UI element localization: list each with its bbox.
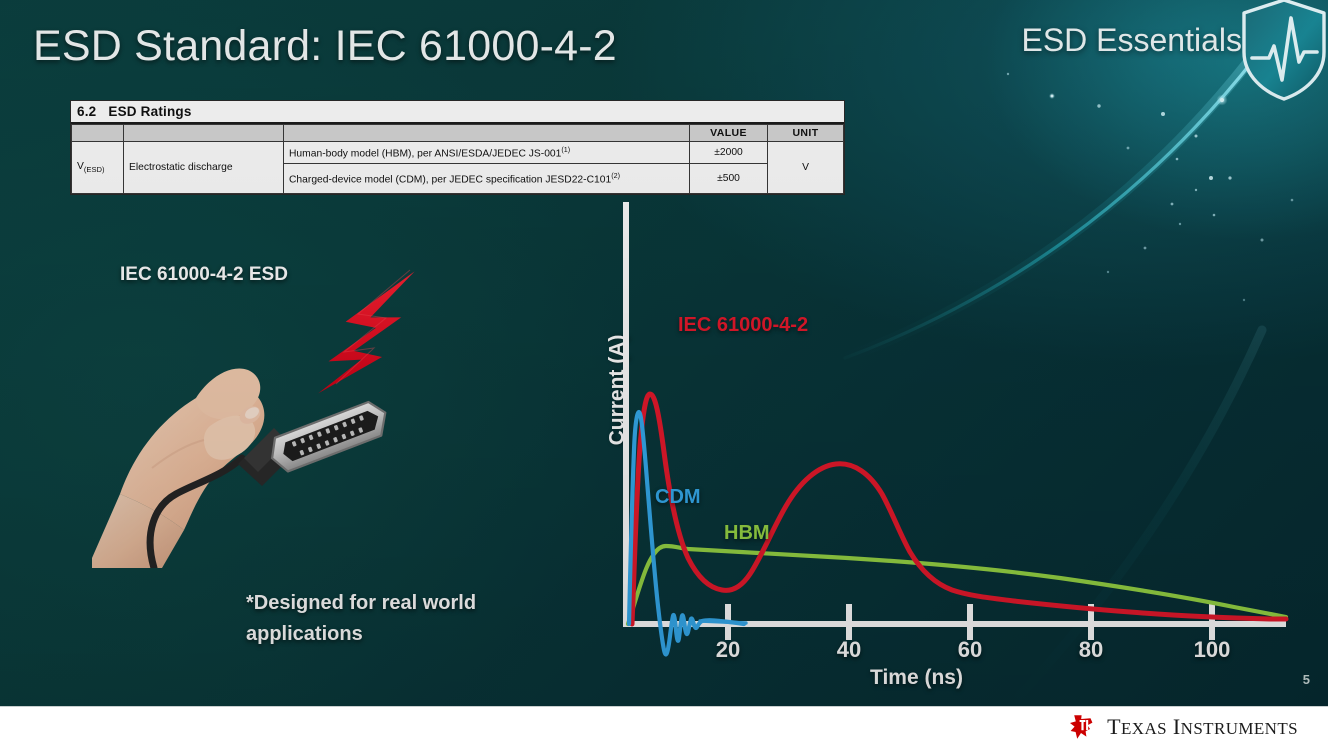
desc-cdm-footnote: (2) [611,171,620,180]
lightning-bolt-icon [318,265,414,399]
table-caption: 6.2ESD Ratings [71,101,844,124]
chart-plot-area [570,200,1310,700]
page-number: 5 [1303,672,1310,687]
header-blank-parameter [124,125,284,142]
desc-hbm-footnote: (1) [561,145,570,154]
chart-xtick-60: 60 [958,637,982,663]
texas-instruments-logo: TEXAS INSTRUMENTS [1068,712,1298,742]
chart-xtick-80: 80 [1079,637,1103,663]
chart-label-hbm: HBM [724,522,770,545]
table-row: V(ESD) Electrostatic discharge Human-bod… [72,142,844,164]
ti-wordmark: TEXAS INSTRUMENTS [1107,714,1298,740]
esd-ratings-table: 6.2ESD Ratings VALUE UNIT V(ESD) Electro… [70,100,845,195]
cell-value-cdm: ±500 [690,164,768,194]
symbol-subscript: (ESD) [84,165,105,174]
slide-footer: TEXAS INSTRUMENTS [0,706,1328,746]
cell-description-hbm: Human-body model (HBM), per ANSI/ESDA/JE… [284,142,690,164]
cell-symbol: V(ESD) [72,142,124,194]
brand-label: ESD Essentials [1021,22,1242,59]
cell-description-cdm: Charged-device model (CDM), per JEDEC sp… [284,164,690,194]
chart-label-cdm: CDM [655,486,701,509]
slide-canvas: ESD Standard: IEC 61000-4-2 ESD Essentia… [0,0,1328,706]
chart-xtick-20: 20 [716,637,740,663]
table-caption-number: 6.2 [77,104,96,119]
table-header-row: VALUE UNIT [72,125,844,142]
cell-unit: V [768,142,844,194]
esd-shield-icon [1238,0,1328,104]
chart-label-iec: IEC 61000-4-2 [678,314,808,337]
symbol-text: V [77,161,84,172]
ti-word-i: I [1173,714,1181,739]
desc-hbm-text: Human-body model (HBM), per ANSI/ESDA/JE… [289,148,561,159]
page-title: ESD Standard: IEC 61000-4-2 [33,22,617,71]
ti-word-t: T [1107,714,1121,739]
chart-xtick-100: 100 [1194,637,1231,663]
series-cdm-tail [700,621,746,623]
header-blank-description [284,125,690,142]
cell-value-hbm: ±2000 [690,142,768,164]
header-value: VALUE [690,125,768,142]
header-unit: UNIT [768,125,844,142]
ti-word-nstruments: NSTRUMENTS [1181,719,1298,738]
ti-texas-mark-icon [1068,712,1098,742]
table-caption-text: ESD Ratings [108,104,191,119]
header-blank-symbol [72,125,124,142]
chart-xtick-40: 40 [837,637,861,663]
ti-word-exas: EXAS [1121,719,1167,738]
esd-waveform-chart: Current (A) Time (ns) 20 [570,200,1310,700]
designed-note: *Designed for real world applications [246,588,546,650]
series-iec-curve [632,394,1286,624]
hand-connector-illustration [92,258,437,568]
cell-parameter: Electrostatic discharge [124,142,284,194]
desc-cdm-text: Charged-device model (CDM), per JEDEC sp… [289,174,611,185]
